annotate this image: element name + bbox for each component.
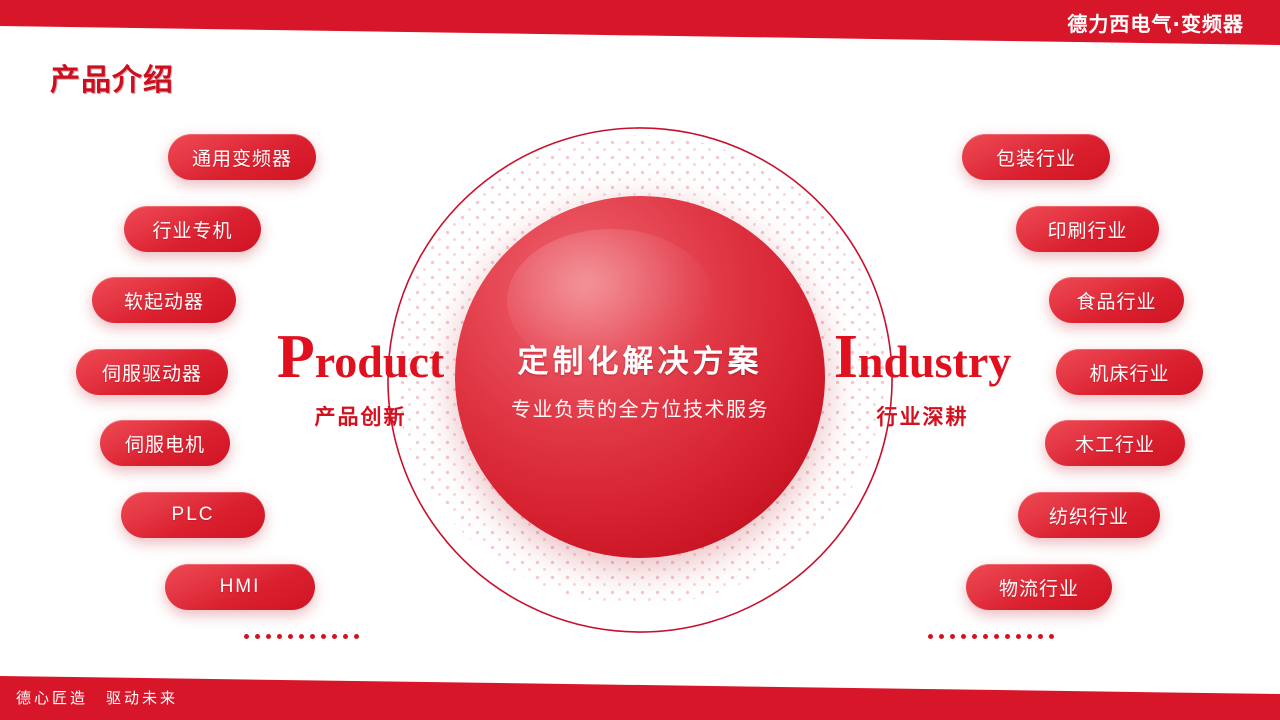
page-title: 产品介绍	[50, 55, 174, 99]
left-heading-chinese: 产品创新	[258, 401, 463, 431]
product-pill-label: 伺服驱动器	[102, 359, 202, 386]
decorative-dot	[928, 634, 933, 639]
industry-pill-label: 机床行业	[1089, 359, 1169, 386]
decorative-dot	[939, 634, 944, 639]
decorative-dot	[1038, 634, 1043, 639]
product-pill-6[interactable]: PLC	[121, 492, 265, 538]
center-subtitle: 专业负责的全方位技术服务	[455, 393, 825, 422]
product-pill-label: 通用变频器	[192, 144, 292, 171]
product-pill-2[interactable]: 行业专机	[124, 206, 261, 252]
right-section-heading: Industry 行业深耕	[820, 326, 1025, 431]
decorative-dot	[994, 634, 999, 639]
industry-pill-label: 纺织行业	[1049, 502, 1129, 529]
decorative-dot	[972, 634, 977, 639]
industry-pill-1[interactable]: 包装行业	[962, 134, 1110, 180]
decorative-dot	[343, 634, 348, 639]
brand-logo-text: 德力西电气·变频器	[1067, 8, 1244, 37]
decorative-dot	[950, 634, 955, 639]
industry-pill-5[interactable]: 木工行业	[1045, 420, 1185, 466]
product-pill-7[interactable]: HMI	[165, 564, 315, 610]
product-pill-label: 行业专机	[152, 216, 232, 243]
decorative-dot	[961, 634, 966, 639]
product-pill-5[interactable]: 伺服电机	[100, 420, 230, 466]
decorative-dot	[354, 634, 359, 639]
left-heading-rest: roduct	[315, 336, 445, 387]
right-heading-chinese: 行业深耕	[820, 401, 1025, 431]
center-title: 定制化解决方案	[455, 336, 825, 381]
right-heading-rest: ndustry	[858, 336, 1011, 387]
product-pill-label: PLC	[172, 504, 215, 526]
decorative-dot	[288, 634, 293, 639]
decorative-dot	[1016, 634, 1021, 639]
left-dot-row-decoration	[244, 634, 359, 639]
industry-pill-label: 木工行业	[1075, 430, 1155, 457]
right-heading-capital: I	[834, 323, 858, 391]
industry-pill-6[interactable]: 纺织行业	[1018, 492, 1160, 538]
industry-pill-label: 印刷行业	[1047, 216, 1127, 243]
decorative-dot	[1027, 634, 1032, 639]
decorative-dot	[244, 634, 249, 639]
decorative-dot	[310, 634, 315, 639]
product-pill-3[interactable]: 软起动器	[92, 277, 236, 323]
left-section-heading: Product 产品创新	[258, 326, 463, 431]
right-heading-english: Industry	[820, 326, 1025, 388]
product-pill-label: HMI	[220, 576, 261, 598]
left-heading-english: Product	[258, 326, 463, 388]
industry-pill-label: 物流行业	[999, 574, 1079, 601]
industry-pill-label: 包装行业	[996, 144, 1076, 171]
industry-pill-4[interactable]: 机床行业	[1056, 349, 1203, 395]
product-pill-label: 软起动器	[124, 287, 204, 314]
decorative-dot	[266, 634, 271, 639]
industry-pill-7[interactable]: 物流行业	[966, 564, 1112, 610]
decorative-dot	[321, 634, 326, 639]
decorative-dot	[277, 634, 282, 639]
decorative-dot	[983, 634, 988, 639]
center-text-block: 定制化解决方案 专业负责的全方位技术服务	[455, 336, 825, 422]
slide-canvas: 定制化解决方案 专业负责的全方位技术服务 Product 产品创新 Indust…	[0, 0, 1280, 720]
product-pill-label: 伺服电机	[125, 430, 205, 457]
industry-pill-2[interactable]: 印刷行业	[1016, 206, 1159, 252]
center-sphere: 定制化解决方案 专业负责的全方位技术服务	[455, 196, 825, 558]
decorative-dot	[1049, 634, 1054, 639]
decorative-dot	[255, 634, 260, 639]
footer-band	[0, 668, 1280, 720]
decorative-dot	[299, 634, 304, 639]
right-dot-row-decoration	[928, 634, 1054, 639]
industry-pill-3[interactable]: 食品行业	[1049, 277, 1184, 323]
left-heading-capital: P	[277, 323, 315, 391]
footer-slogan: 德心匠造 驱动未来	[16, 687, 178, 708]
product-pill-1[interactable]: 通用变频器	[168, 134, 316, 180]
decorative-dot	[1005, 634, 1010, 639]
decorative-dot	[332, 634, 337, 639]
product-pill-4[interactable]: 伺服驱动器	[76, 349, 228, 395]
industry-pill-label: 食品行业	[1076, 287, 1156, 314]
